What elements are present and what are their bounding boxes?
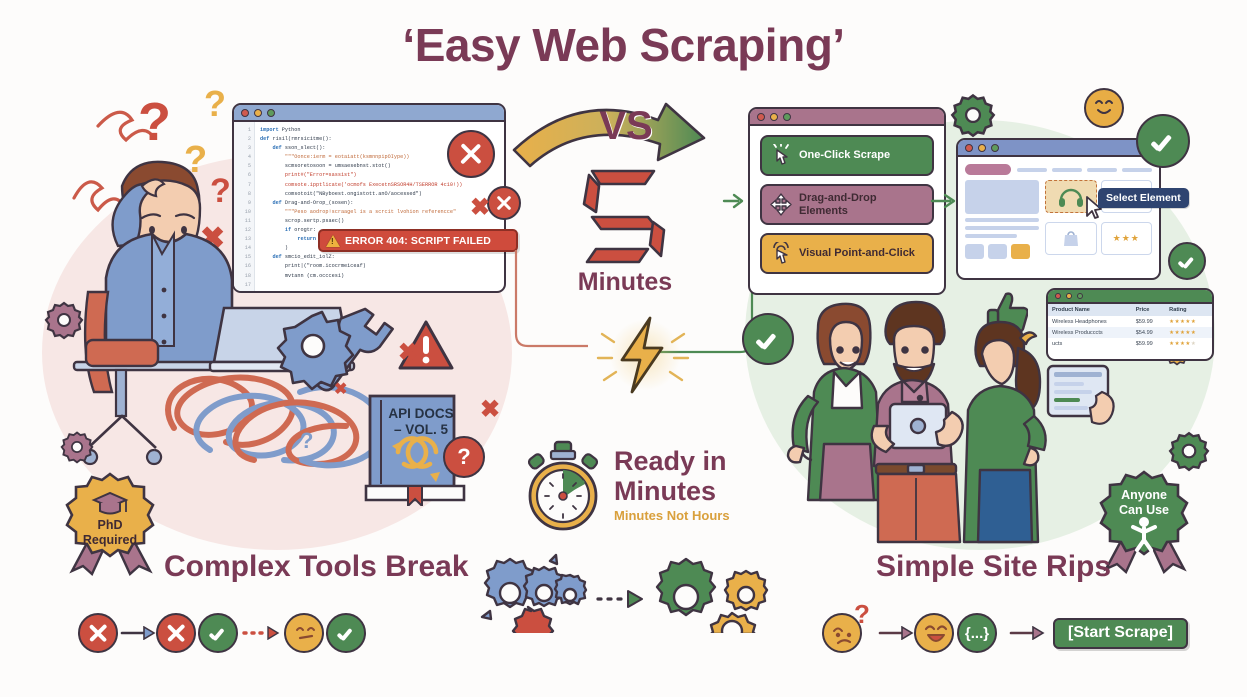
scraped-data-table-window[interactable]: Product NamePriceRating Wireless Headpho… xyxy=(1046,288,1214,361)
window-titlebar xyxy=(958,140,1159,157)
handheld-tablet-illustration xyxy=(1042,362,1122,434)
happy-face-glyph-icon xyxy=(923,625,949,645)
shopping-bag-icon xyxy=(1063,229,1079,247)
line-number: 14 xyxy=(234,244,251,253)
gear-icon-right-2 xyxy=(1168,430,1210,472)
line-number: 11 xyxy=(234,217,251,226)
left-section-heading: Complex Tools Break xyxy=(164,550,469,584)
code-line[interactable]: def Drag-and-Orop_(sosen): xyxy=(260,199,504,208)
smiley-face-badge xyxy=(1084,88,1124,128)
ready-line2: Minutes xyxy=(614,476,730,506)
gear-icon-left-2 xyxy=(60,430,94,464)
right-outcome-flow: ? {...} [Start Scrape] xyxy=(822,613,1188,653)
table-cell-product-name: ucts xyxy=(1048,338,1132,349)
json-output-badge: {...} xyxy=(957,613,997,653)
flow-arrow-solid-1 xyxy=(118,626,156,640)
success-check-badge-2 xyxy=(1168,242,1206,280)
table-cell-price: $59.99 xyxy=(1132,316,1165,327)
window-titlebar xyxy=(234,105,504,122)
maximize-dot-icon[interactable] xyxy=(991,144,999,152)
neutral-face-glyph-icon xyxy=(294,626,318,644)
book-title-line1: API DOCS xyxy=(378,406,464,422)
ready-in-minutes-block: Ready in Minutes Minutes Not Hours xyxy=(614,446,730,523)
line-number-gutter: 12345678910111213141516181718 xyxy=(234,122,255,293)
anyone-badge-line2: Can Use xyxy=(1096,503,1192,517)
success-check-badge-1 xyxy=(1136,114,1190,168)
table-column-header: Rating xyxy=(1165,304,1212,316)
flow-x-badge-2 xyxy=(156,613,196,653)
feature-list[interactable]: One-Click ScrapeDrag-and-Drop ElementsVi… xyxy=(750,126,944,283)
line-number: 10 xyxy=(234,208,251,217)
page-left-column xyxy=(965,180,1039,259)
flow-x-badge-1 xyxy=(78,613,118,653)
scraped-data-table[interactable]: Product NamePriceRating Wireless Headpho… xyxy=(1048,304,1212,350)
gear-icon-right-1 xyxy=(950,92,996,138)
decor-x-1: ✖ xyxy=(470,196,490,220)
svg-text:?: ? xyxy=(210,172,231,210)
infographic-canvas: ‘Easy Web Scraping’ ? ? ? ? ✖ xyxy=(0,0,1247,697)
error-x-badge-1 xyxy=(447,130,495,178)
decor-question-1: ? xyxy=(300,430,313,452)
feature-panel-window[interactable]: One-Click ScrapeDrag-and-Drop ElementsVi… xyxy=(748,107,946,295)
table-column-header: Product Name xyxy=(1048,304,1132,316)
start-scrape-button[interactable]: [Start Scrape] xyxy=(1053,618,1188,649)
flow-arrow-dotted-1 xyxy=(238,626,284,640)
flow-check-badge-2 xyxy=(326,613,366,653)
code-line[interactable]: scrop.sertp.psaec() xyxy=(260,217,504,226)
vs-label: VS xyxy=(566,104,686,149)
gear-icon-left-1 xyxy=(44,300,84,340)
flow-happy-face xyxy=(914,613,954,653)
decor-x-3: ✖ xyxy=(480,398,500,422)
lightning-bolt-illustration xyxy=(592,312,698,398)
book-question-badge: ? xyxy=(443,436,485,478)
gear-transformation-flow xyxy=(470,553,780,633)
line-number: 15 xyxy=(234,253,251,262)
line-number: 12 xyxy=(234,226,251,235)
ready-subtitle: Minutes Not Hours xyxy=(614,508,730,523)
table-cell-product-name: Wireless Producccts xyxy=(1048,327,1132,338)
table-cell-price: $59.99 xyxy=(1132,338,1165,349)
line-number: 9 xyxy=(234,199,251,208)
page-header-row xyxy=(965,164,1152,175)
window-titlebar xyxy=(1048,290,1212,304)
flow-arrow-solid-2 xyxy=(876,626,914,640)
code-line[interactable]: comsotoit("NByboest.ongistott.anO/aocess… xyxy=(260,190,504,199)
close-dot-icon[interactable] xyxy=(757,113,765,121)
line-number: 8 xyxy=(234,190,251,199)
svg-text:?: ? xyxy=(204,83,226,124)
table-cell-rating: ★★★★★ xyxy=(1165,316,1212,327)
page-text-line xyxy=(965,218,1039,222)
product-stars: ★★★ xyxy=(1113,233,1140,244)
page-preview[interactable]: ★★★ xyxy=(958,157,1159,266)
click-cursor-icon xyxy=(770,144,792,168)
line-number: 13 xyxy=(234,235,251,244)
page-nav-placeholders xyxy=(1017,164,1152,175)
table-cell-rating: ★★★★★ xyxy=(1165,327,1212,338)
table-cell-price: $54.99 xyxy=(1132,327,1165,338)
line-number: 7 xyxy=(234,181,251,190)
minimize-dot-icon[interactable] xyxy=(254,109,262,117)
feature-button-visual-point-and-click[interactable]: Visual Point-and-Click xyxy=(760,233,934,274)
select-element-tooltip: Select Element xyxy=(1098,188,1189,208)
maximize-dot-icon[interactable] xyxy=(783,113,791,121)
line-number: 6 xyxy=(234,171,251,180)
browser-preview-window[interactable]: ★★★ xyxy=(956,138,1161,280)
arrow-into-features xyxy=(722,190,748,212)
minimize-dot-icon[interactable] xyxy=(978,144,986,152)
product-card-rating[interactable]: ★★★ xyxy=(1101,222,1153,255)
flow-check-badge-1 xyxy=(198,613,238,653)
flow-arrow-solid-3 xyxy=(1007,626,1045,640)
left-outcome-flow xyxy=(78,613,366,653)
close-dot-icon[interactable] xyxy=(1055,293,1061,299)
stopwatch-icon xyxy=(519,440,607,532)
happy-team-illustration xyxy=(762,292,1062,544)
table-row[interactable]: Wireless Headphones$59.99★★★★★ xyxy=(1048,316,1212,327)
maximize-dot-icon[interactable] xyxy=(1077,293,1083,299)
phd-badge-line2: Required xyxy=(62,533,158,547)
error-x-badge-2 xyxy=(487,186,521,220)
table-body[interactable]: Wireless Headphones$59.99★★★★★Wireless P… xyxy=(1048,316,1212,350)
maximize-dot-icon[interactable] xyxy=(267,109,275,117)
close-dot-icon[interactable] xyxy=(965,144,973,152)
page-hero-image xyxy=(965,180,1039,214)
ready-line1: Ready in xyxy=(614,446,730,476)
book-title-line2: – VOL. 5 xyxy=(378,422,464,437)
flow-confused-face: ? xyxy=(822,613,862,653)
page-title: ‘Easy Web Scraping’ xyxy=(0,18,1247,72)
table-row[interactable]: ucts$59.99★★★★★ xyxy=(1048,338,1212,349)
line-number: 1 xyxy=(234,126,251,135)
table-column-header: Price xyxy=(1132,304,1165,316)
page-chip-row xyxy=(965,244,1039,259)
line-number: 4 xyxy=(234,153,251,162)
right-section-heading: Simple Site Rips xyxy=(876,550,1111,584)
headphones-icon xyxy=(1058,186,1084,208)
minimize-dot-icon[interactable] xyxy=(770,113,778,121)
line-number: 3 xyxy=(234,144,251,153)
page-logo-placeholder xyxy=(965,164,1011,175)
minimize-dot-icon[interactable] xyxy=(1066,293,1072,299)
smile-glyph-icon xyxy=(1092,99,1116,117)
line-number: 18 xyxy=(234,272,251,281)
tap-cursor-icon xyxy=(770,242,792,266)
line-number: 5 xyxy=(234,162,251,171)
feature-button-label: Visual Point-and-Click xyxy=(799,247,915,260)
page-text-line xyxy=(965,234,1017,238)
decor-x-4: ✖ xyxy=(334,382,347,398)
flow-neutral-face xyxy=(284,613,324,653)
table-row[interactable]: Wireless Producccts$54.99★★★★★ xyxy=(1048,327,1212,338)
table-cell-product-name: Wireless Headphones xyxy=(1048,316,1132,327)
table-header-row: Product NamePriceRating xyxy=(1048,304,1212,316)
move-arrows-icon xyxy=(770,193,792,217)
code-line[interactable]: comsote.ipptlicate('ocmofs ExecetnSRSOR4… xyxy=(260,181,504,190)
page-text-line xyxy=(965,226,1039,230)
phd-badge-line1: PhD xyxy=(62,518,158,532)
code-line[interactable]: """Peso aodrop!scraagel is a scrcit lvoh… xyxy=(260,208,504,217)
window-titlebar xyxy=(750,109,944,126)
line-number: 17 xyxy=(234,281,251,290)
feature-button-drag-and-drop-elements[interactable]: Drag-and-Drop Elements xyxy=(760,184,934,225)
svg-text:?: ? xyxy=(138,92,171,152)
feature-button-label: Drag-and-Drop Elements xyxy=(799,192,924,217)
anyone-badge-line1: Anyone xyxy=(1096,488,1192,502)
line-number: 2 xyxy=(234,135,251,144)
line-number: 16 xyxy=(234,262,251,271)
flow-question-mark: ? xyxy=(854,599,870,630)
product-card-bag[interactable] xyxy=(1045,222,1097,255)
table-cell-rating: ★★★★★ xyxy=(1165,338,1212,349)
close-dot-icon[interactable] xyxy=(241,109,249,117)
feature-button-label: One-Click Scrape xyxy=(799,149,890,162)
feature-button-one-click-scrape[interactable]: One-Click Scrape xyxy=(760,135,934,176)
